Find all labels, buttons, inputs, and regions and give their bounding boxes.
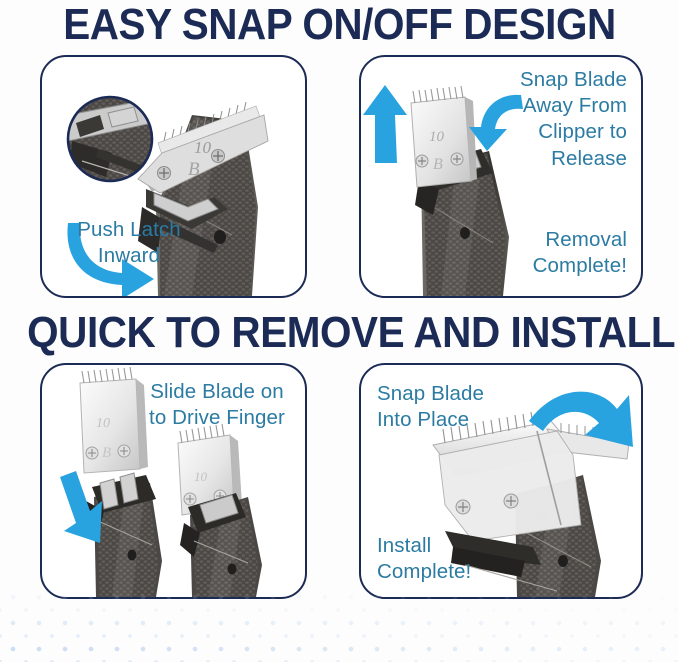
brand-mark: B bbox=[188, 159, 200, 180]
arrow-up-icon bbox=[363, 85, 407, 163]
blade-engraving-number: 10 bbox=[194, 138, 212, 157]
svg-text:10: 10 bbox=[429, 129, 445, 145]
panel-4-caption-secondary: Install Complete! bbox=[377, 533, 527, 585]
step-panel-snap-into-place: Snap Blade Into Place Install Complete! bbox=[359, 363, 643, 599]
clipper-right-blade-seated: 10 bbox=[178, 424, 270, 599]
step-panel-push-latch: 10 B bbox=[40, 55, 307, 298]
panel-2-caption-main: Snap Blade Away From Clipper to Release bbox=[477, 67, 627, 172]
panel-4-caption-main: Snap Blade Into Place bbox=[377, 381, 517, 433]
svg-text:10: 10 bbox=[194, 469, 208, 484]
blade-floating: 10 B bbox=[80, 367, 148, 473]
step-panel-snap-away: 10 B Snap Blade Away From Clipper to Rel… bbox=[359, 55, 643, 298]
panel-2-caption-secondary: Removal Complete! bbox=[477, 227, 627, 279]
clipper-blade-detached: 10 B bbox=[411, 86, 477, 187]
step-panel-slide-blade: 10 B bbox=[40, 363, 307, 599]
detail-circle-inset bbox=[68, 97, 152, 181]
page-title-middle: QUICK TO REMOVE AND INSTALL bbox=[27, 311, 652, 355]
panel-1-caption: Push Latch Inward bbox=[54, 217, 204, 269]
page-title-top: EASY SNAP ON/OFF DESIGN bbox=[27, 3, 652, 47]
arrow-down-left-icon bbox=[60, 471, 102, 543]
svg-text:B: B bbox=[102, 445, 111, 461]
infographic-sheet: EASY SNAP ON/OFF DESIGN QUICK TO REMOVE … bbox=[0, 0, 679, 662]
panel-3-caption: Slide Blade on to Drive Finger bbox=[139, 379, 295, 431]
svg-text:10: 10 bbox=[96, 416, 110, 431]
svg-text:B: B bbox=[433, 156, 443, 173]
